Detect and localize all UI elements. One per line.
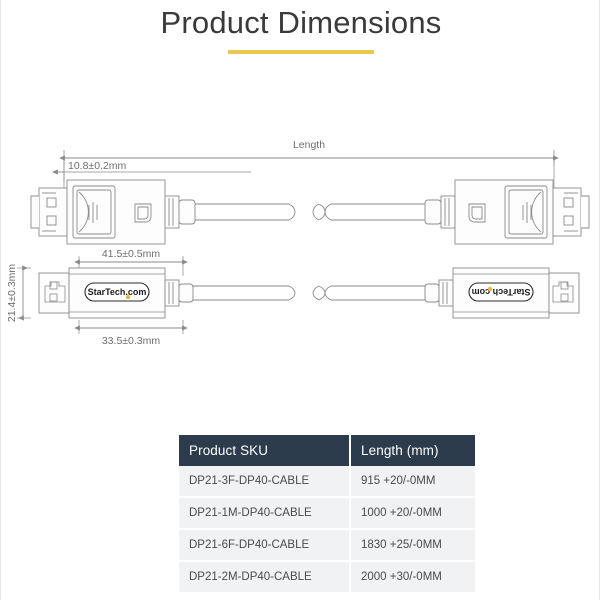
table-row: DP21-3F-DP40-CABLE 915 +20/-0MM (179, 466, 475, 497)
brand-logo-left-label: StarTech.com (88, 287, 147, 297)
table-row: DP21-1M-DP40-CABLE 1000 +20/-0MM (179, 497, 475, 529)
cell-sku: DP21-3F-DP40-CABLE (179, 466, 350, 497)
dimension-height-21-4 (17, 268, 31, 318)
product-dimensions-page: Product Dimensions (0, 0, 600, 600)
cell-length: 1000 +20/-0MM (350, 497, 475, 529)
top-view-cable (195, 204, 425, 220)
brand-dot-right (488, 287, 492, 291)
table-row: DP21-2M-DP40-CABLE 2000 +30/-0MM (179, 561, 475, 593)
page-title: Product Dimensions (1, 4, 600, 42)
brand-dot-left (126, 295, 130, 299)
title-accent-rule (228, 50, 374, 54)
cell-length: 2000 +30/-0MM (350, 561, 475, 593)
column-header-product-sku: Product SKU (179, 435, 350, 466)
top-view-right-connector (425, 180, 589, 244)
brand-logo-right-label: StarTech.com (472, 287, 531, 297)
dimension-drawing: Length 10.8±0.2mm (1, 110, 600, 400)
cell-length: 915 +20/-0MM (350, 466, 475, 497)
dimension-width-10-8-label: 10.8±0.2mm (68, 160, 127, 172)
column-header-length: Length (mm) (350, 435, 475, 466)
cell-sku: DP21-1M-DP40-CABLE (179, 497, 350, 529)
table-row: DP21-6F-DP40-CABLE 1830 +25/-0MM (179, 529, 475, 561)
side-view-cable (193, 286, 425, 300)
top-view-left-connector (31, 180, 195, 244)
cell-sku: DP21-6F-DP40-CABLE (179, 529, 350, 561)
cable-break-symbol (289, 286, 331, 300)
dimension-height-21-4-label: 21.4±0.3mm (6, 264, 18, 323)
cell-length: 1830 +25/-0MM (350, 529, 475, 561)
dimension-length-33-5 (79, 320, 183, 334)
cell-sku: DP21-2M-DP40-CABLE (179, 561, 350, 593)
dimension-length-label: Length (293, 139, 325, 151)
table-header-row: Product SKU Length (mm) (179, 435, 475, 466)
cable-break-symbol (289, 204, 331, 220)
dimension-length-33-5-label: 33.5±0.3mm (102, 335, 161, 347)
product-sku-length-table: Product SKU Length (mm) DP21-3F-DP40-CAB… (179, 435, 475, 594)
dimension-length-41-5-label: 41.5±0.5mm (102, 248, 161, 260)
title-block: Product Dimensions (1, 4, 600, 54)
